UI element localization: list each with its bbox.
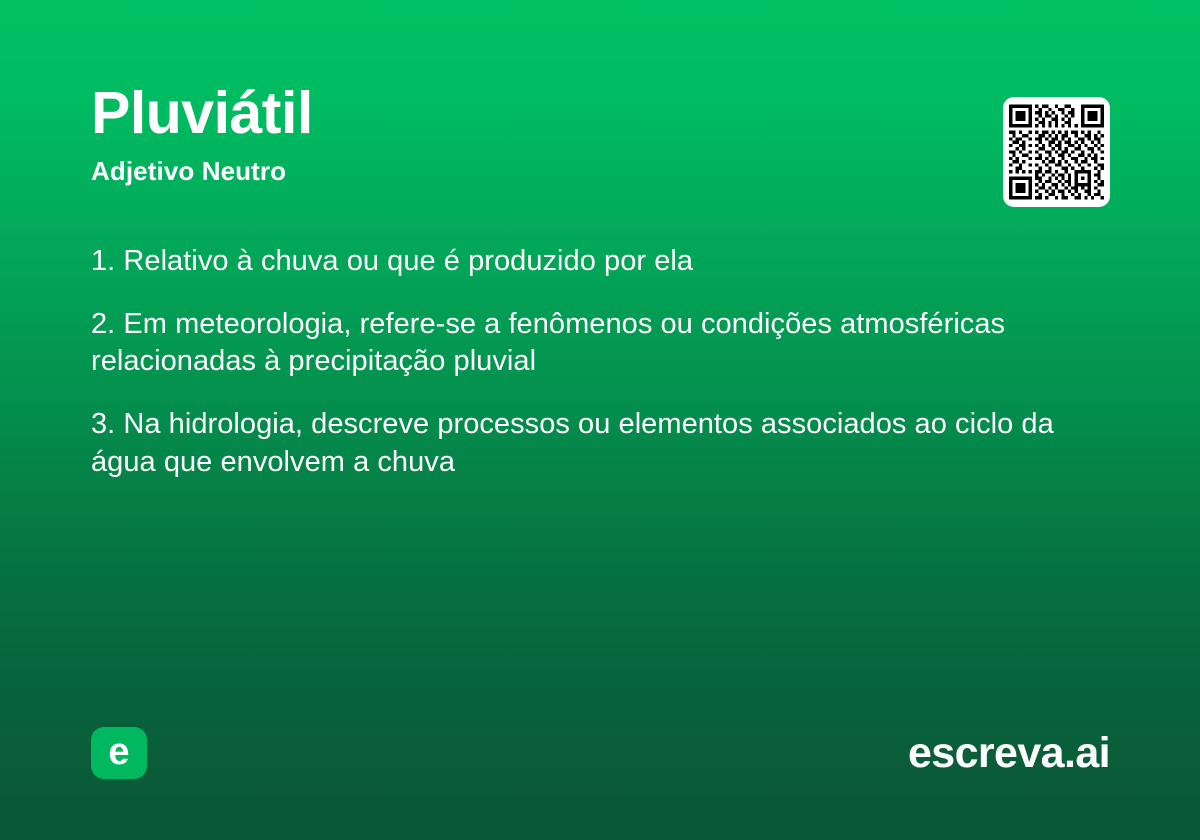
card-header: Pluviátil Adjetivo Neutro bbox=[91, 82, 1109, 187]
qr-code-icon bbox=[1009, 103, 1104, 201]
qr-code-card[interactable] bbox=[1003, 97, 1110, 207]
brand-wordmark: escreva.ai bbox=[908, 732, 1110, 775]
page-title: Pluviátil bbox=[91, 82, 1109, 146]
definition-list: 1. Relativo à chuva ou que é produzido p… bbox=[91, 243, 1119, 481]
escreva-logo-icon: e bbox=[91, 727, 147, 779]
word-class-label: Adjetivo Neutro bbox=[91, 156, 1109, 187]
logo-letter: e bbox=[108, 733, 129, 771]
card-footer: e escreva.ai bbox=[91, 727, 1110, 779]
definition-item: 1. Relativo à chuva ou que é produzido p… bbox=[91, 243, 1119, 281]
definition-card: Pluviátil Adjetivo Neutro bbox=[0, 0, 1200, 840]
definition-item: 3. Na hidrologia, descreve processos ou … bbox=[91, 406, 1119, 481]
definition-item: 2. Em meteorologia, refere-se a fenômeno… bbox=[91, 306, 1119, 381]
